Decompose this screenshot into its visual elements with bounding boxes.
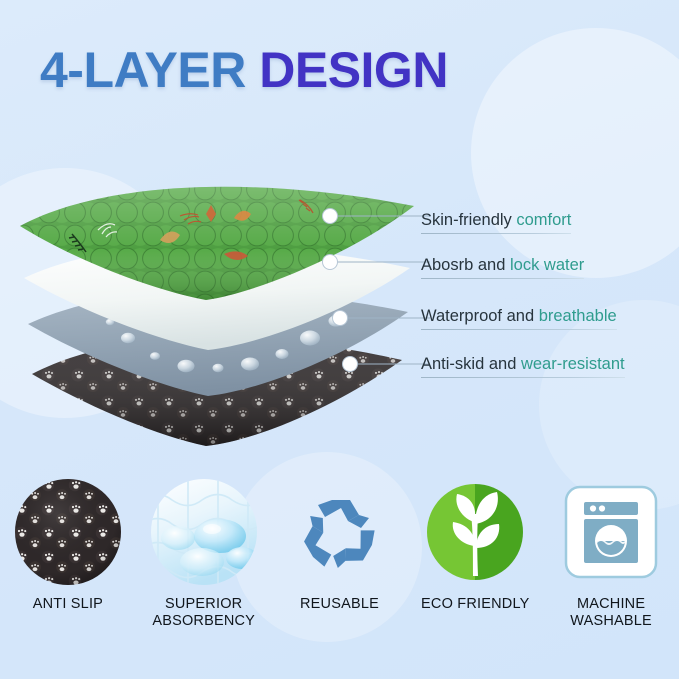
callout-label-skin-friendly: Skin-friendly comfort: [421, 211, 571, 234]
feature-caption-eco-friendly: ECO FRIENDLY: [421, 596, 529, 613]
callout-3-underline: [421, 329, 617, 330]
callout-2-main: Abosrb and: [421, 256, 510, 274]
callout-3-main: Waterproof and: [421, 307, 539, 325]
callout-2-highlight: lock water: [510, 256, 584, 274]
callout-4-highlight: wear-resistant: [521, 355, 625, 373]
title-part-one: 4-LAYER: [40, 42, 246, 98]
feature-row: ANTI SLIP: [0, 478, 679, 648]
decorative-circle-top-right: [471, 28, 679, 278]
water-droplet-quilt-circle-icon: [150, 478, 258, 586]
feature-anti-slip: ANTI SLIP: [0, 478, 136, 613]
green-leaf-circle-icon: [421, 478, 529, 586]
callout-1-highlight: comfort: [516, 211, 571, 229]
feature-superior-absorbency: SUPERIOR ABSORBENCY: [136, 478, 272, 630]
feature-caption-machine-washable: MACHINE WASHABLE: [570, 596, 652, 630]
title-part-two: DESIGN: [259, 42, 448, 98]
callout-4-main: Anti-skid and: [421, 355, 521, 373]
layer-stack-illustration: [10, 178, 430, 468]
feature-caption-superior-absorbency: SUPERIOR ABSORBENCY: [152, 596, 255, 630]
recycle-arrows-icon: [285, 478, 393, 586]
feature-caption-reusable: REUSABLE: [300, 596, 379, 613]
callout-1-main: Skin-friendly: [421, 211, 516, 229]
callout-2-underline: [421, 278, 584, 279]
callout-1-underline: [421, 233, 571, 234]
infographic-canvas: 4-LAYER DESIGN: [0, 0, 679, 679]
callout-4-underline: [421, 377, 625, 378]
feature-machine-washable: MACHINE WASHABLE: [543, 478, 679, 630]
feature-eco-friendly: ECO FRIENDLY: [407, 478, 543, 613]
callout-label-absorb-lock-water: Abosrb and lock water: [421, 256, 584, 279]
feature-caption-anti-slip: ANTI SLIP: [33, 596, 103, 613]
callout-label-waterproof-breathable: Waterproof and breathable: [421, 307, 617, 330]
callout-label-anti-skid-wear-resistant: Anti-skid and wear-resistant: [421, 355, 625, 378]
page-title: 4-LAYER DESIGN: [40, 45, 448, 95]
callout-3-highlight: breathable: [539, 307, 617, 325]
washing-machine-icon: [557, 478, 665, 586]
paw-print-circle-icon: [14, 478, 122, 586]
feature-reusable: REUSABLE: [272, 478, 408, 613]
